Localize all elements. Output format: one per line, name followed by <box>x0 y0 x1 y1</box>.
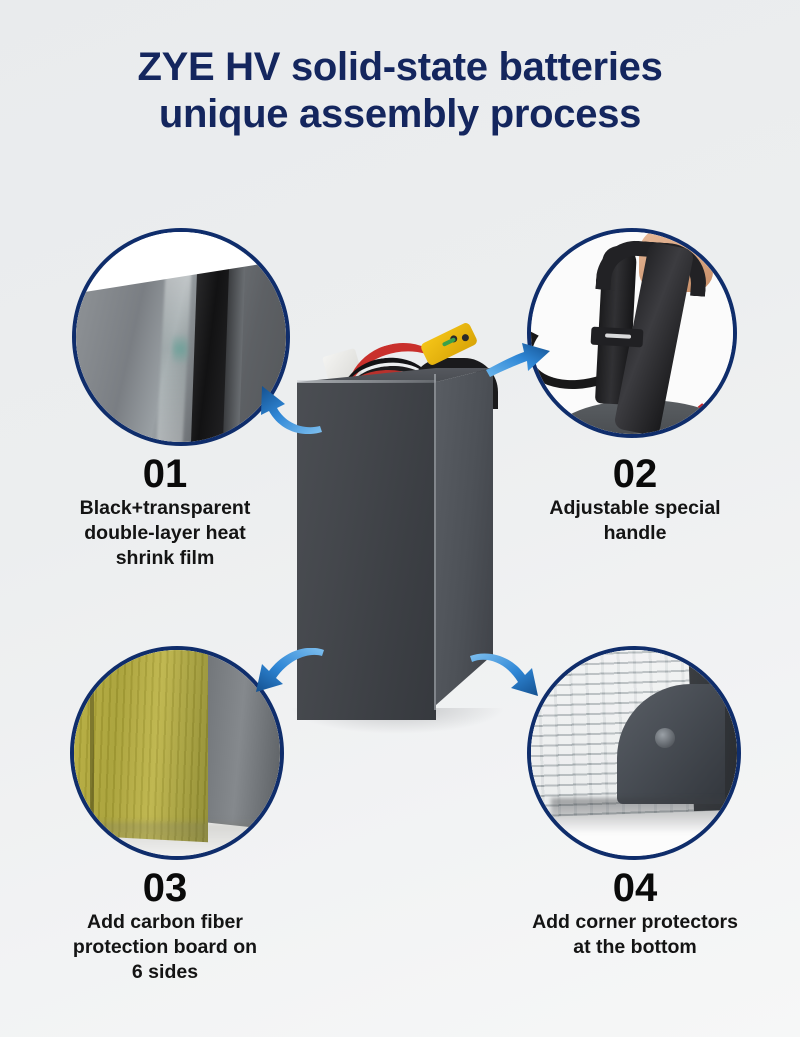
page-title-line-1: ZYE HV solid-state batteries <box>0 44 800 91</box>
step-04-photo-circle <box>527 646 741 860</box>
step-03-label: 03 Add carbon fiber protection board on … <box>20 866 310 985</box>
step-04-caption-line-2: at the bottom <box>480 935 790 960</box>
step-04-label: 04 Add corner protectors at the bottom <box>480 866 790 960</box>
step-01-caption-line-3: shrink film <box>20 546 310 571</box>
arrow-to-step-01 <box>252 368 324 434</box>
page-title-line-2: unique assembly process <box>0 91 800 138</box>
page-title: ZYE HV solid-state batteries unique asse… <box>0 44 800 138</box>
step-04-caption-line-1: Add corner protectors <box>480 910 790 935</box>
infographic-page: ZYE HV solid-state batteries unique asse… <box>0 0 800 1037</box>
battery-vertical-edge <box>434 374 436 710</box>
step-02-label: 02 Adjustable special handle <box>490 452 780 546</box>
step-01-caption-line-2: double-layer heat <box>20 521 310 546</box>
step-03-number: 03 <box>20 866 310 910</box>
step-04-number: 04 <box>480 866 790 910</box>
step-02-number: 02 <box>490 452 780 496</box>
step-01-number: 01 <box>20 452 310 496</box>
arrow-to-step-04 <box>468 652 544 712</box>
step-02-caption-line-1: Adjustable special <box>490 496 780 521</box>
step-03-caption-line-1: Add carbon fiber <box>20 910 310 935</box>
step-03-caption-line-2: protection board on <box>20 935 310 960</box>
arrow-to-step-02 <box>484 330 554 380</box>
step-02-photo-circle <box>527 228 737 438</box>
step-03-caption-line-3: 6 sides <box>20 960 310 985</box>
step-01-label: 01 Black+transparent double-layer heat s… <box>20 452 310 571</box>
step-01-caption-line-1: Black+transparent <box>20 496 310 521</box>
step-02-caption-line-2: handle <box>490 521 780 546</box>
arrow-to-step-03 <box>250 648 326 708</box>
corner-protector-photo <box>531 650 737 856</box>
adjustable-handle-photo <box>531 232 733 434</box>
